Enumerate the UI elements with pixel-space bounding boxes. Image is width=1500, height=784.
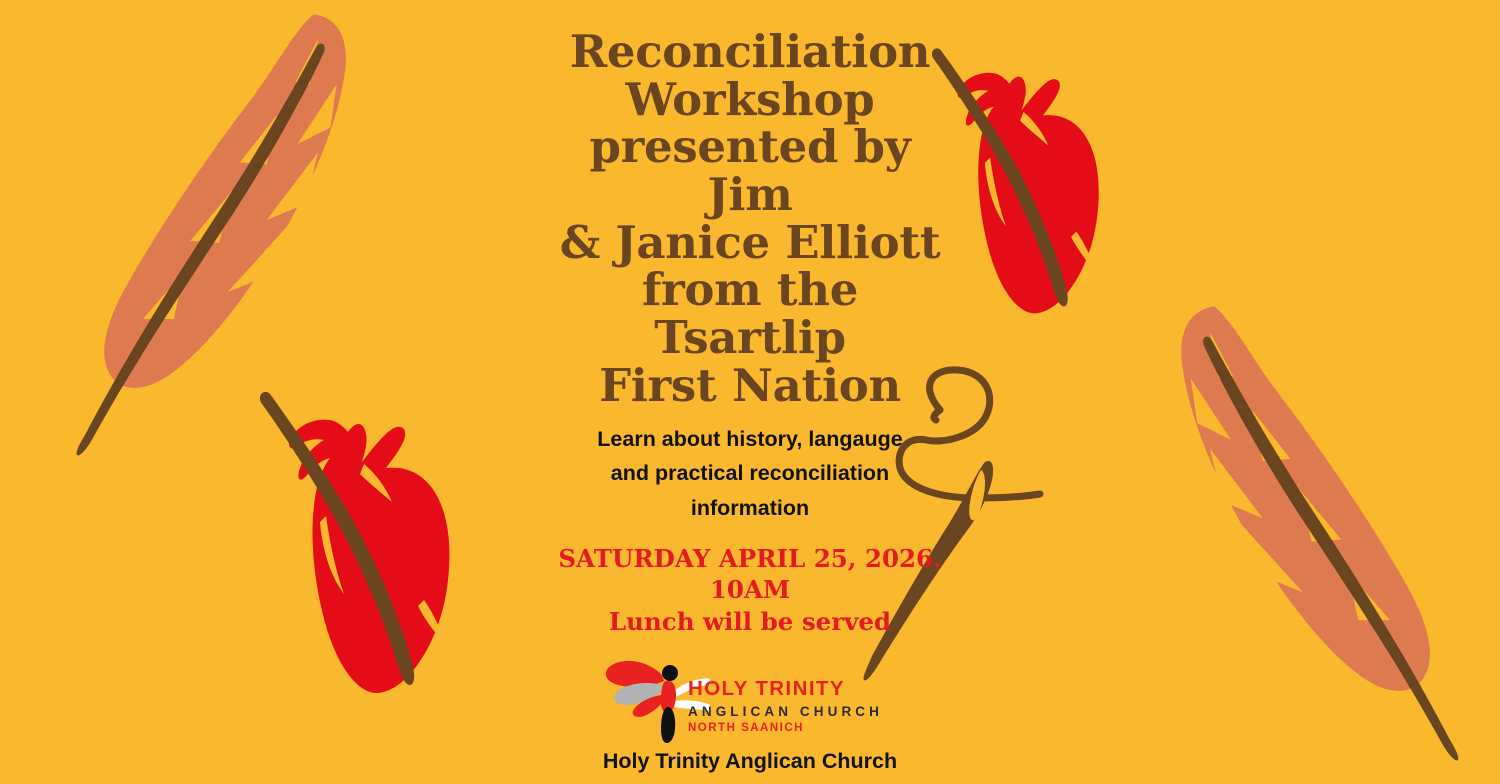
- headline-line-1: Reconciliation: [570, 25, 930, 78]
- page-title: Reconciliation Workshop presented by Jim…: [540, 0, 960, 410]
- description-line-1: Learn about history, langauge: [550, 422, 950, 457]
- venue-name: Holy Trinity Anglican Church: [470, 745, 1030, 777]
- logo-line-anglican-church: ANGLICAN CHURCH: [688, 705, 900, 719]
- headline-line-5: from the Tsartlip: [642, 263, 858, 364]
- venue-and-registration: Holy Trinity Anglican Church Parish Hall…: [470, 745, 1030, 784]
- headline-line-6: First Nation: [599, 359, 901, 412]
- logo-line-holy-trinity: HOLY TRINITY: [688, 679, 900, 700]
- description-line-3: information: [550, 491, 950, 526]
- description-line-2: and practical reconciliation: [550, 456, 950, 491]
- poster-canvas: Reconciliation Workshop presented by Jim…: [0, 0, 1500, 784]
- event-time: 10AM: [530, 574, 970, 605]
- workshop-description: Learn about history, langauge and practi…: [550, 422, 950, 526]
- event-details: SATURDAY APRIL 25, 2026. 10AM Lunch will…: [530, 543, 970, 637]
- logo-wordmark: HOLY TRINITY ANGLICAN CHURCH NORTH SAANI…: [688, 679, 900, 735]
- venue-room: Parish Hall: [470, 777, 1030, 784]
- headline-line-3: presented by Jim: [589, 120, 910, 221]
- headline-line-2: Workshop: [626, 73, 875, 126]
- event-date: SATURDAY APRIL 25, 2026.: [530, 543, 970, 574]
- lunch-note: Lunch will be served: [530, 606, 970, 637]
- logo-line-north-saanich: NORTH SAANICH: [688, 723, 900, 735]
- poster-content: Reconciliation Workshop presented by Jim…: [430, 0, 1070, 784]
- red-feather-icon: [260, 392, 450, 693]
- orange-feather-icon: [1181, 306, 1458, 760]
- orange-feather-icon: [77, 14, 346, 455]
- church-logo: HOLY TRINITY ANGLICAN CHURCH NORTH SAANI…: [600, 651, 900, 743]
- headline-line-4: & Janice Elliott: [560, 216, 941, 269]
